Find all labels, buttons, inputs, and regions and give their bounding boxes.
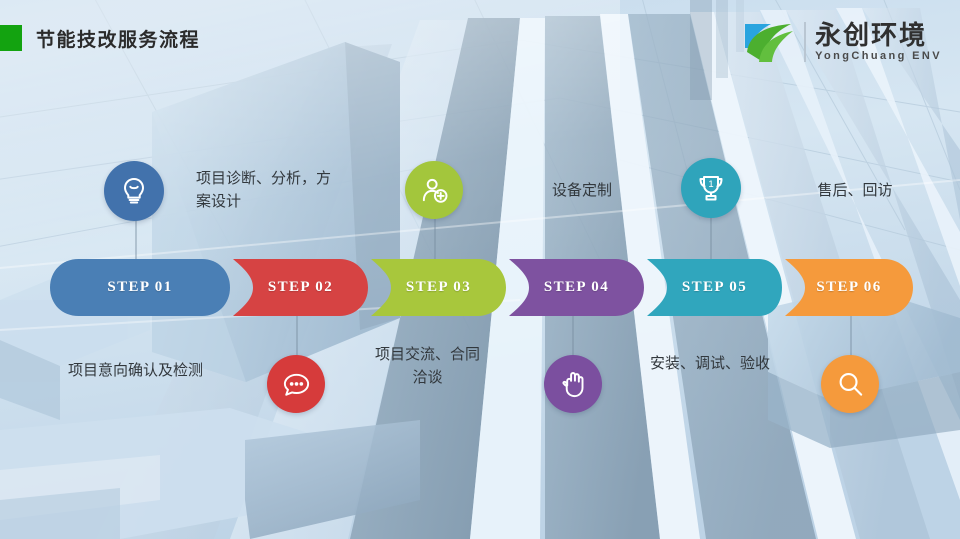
step-band-03[interactable]: STEP 03 [371,259,506,316]
connector-step-03 [434,214,436,262]
connector-step-06 [850,312,852,356]
logo-name-cn: 永创环境 [815,22,942,48]
step-band-04[interactable]: STEP 04 [509,259,644,316]
step-band-01[interactable]: STEP 01 [50,259,230,316]
connector-step-02 [296,312,298,356]
connector-step-01 [135,218,137,262]
company-logo: 永创环境 YongChuang ENV [741,18,942,66]
step-band-02[interactable]: STEP 02 [233,259,368,316]
add-user-icon [419,175,450,206]
step-band-05[interactable]: STEP 05 [647,259,782,316]
page-title: 节能技改服务流程 [36,25,200,52]
node-icon-step-02[interactable] [267,355,325,413]
node-icon-step-01[interactable] [104,161,164,221]
logo-text: 永创环境 YongChuang ENV [815,22,942,62]
node-icon-step-03[interactable] [405,161,463,219]
caption-step-05: 安装、调试、验收 [610,353,810,376]
trophy-icon: 1 [695,172,727,204]
process-flow-diagram: STEP 01 STEP 02 STEP 03 STEP 04 STEP 05 … [0,0,960,539]
connector-step-04 [572,312,574,356]
logo-swoosh-icon [741,18,799,66]
caption-step-04: 设备定制 [512,180,652,203]
connector-step-05 [710,214,712,262]
node-icon-step-04[interactable] [544,355,602,413]
caption-step-06: 售后、回访 [785,180,925,203]
caption-step-03: 项目诊断、分析，方 案设计 [196,168,386,213]
caption-step-01: 项目意向确认及检测 [28,360,243,383]
header-accent-marker [0,25,22,51]
lightbulb-icon [118,175,150,207]
chat-bubble-icon [281,369,312,400]
logo-divider [804,22,806,62]
svg-text:1: 1 [708,179,713,190]
node-icon-step-05[interactable]: 1 [681,158,741,218]
step-band-06[interactable]: STEP 06 [785,259,913,316]
node-icon-step-06[interactable] [821,355,879,413]
hand-icon [558,369,589,400]
logo-name-en: YongChuang ENV [815,51,942,62]
caption-step-02: 项目交流、合同 洽谈 [345,344,510,389]
search-icon [835,369,866,400]
